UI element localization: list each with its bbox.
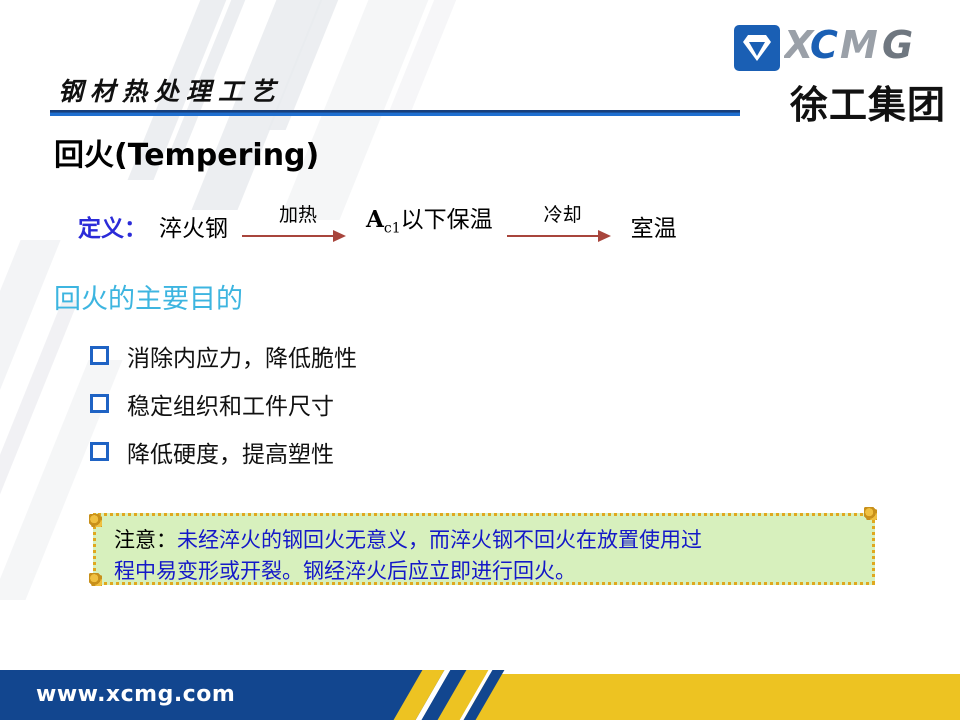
purpose-bullet-list: 消除内应力，降低脆性 稳定组织和工件尺寸 降低硬度，提高塑性: [90, 333, 357, 477]
corner-ornament-icon: [864, 507, 877, 520]
definition-flow: 定义： 淬火钢 加热 Ac1以下保温 冷却 室温: [78, 200, 677, 246]
header-divider: [50, 110, 740, 116]
definition-label: 定义：: [78, 212, 147, 246]
list-item: 消除内应力，降低脆性: [90, 333, 357, 378]
note-line-2: 程中易变形或开裂。钢经淬火后应立即进行回火。: [114, 556, 854, 587]
background-stripe: [0, 300, 79, 560]
logo-top-row: X C M G: [734, 24, 946, 72]
heating-arrow: 加热: [242, 206, 354, 246]
definition-start-term: 淬火钢: [159, 212, 228, 246]
middle-term-suffix: 以下保温: [401, 207, 493, 233]
svg-text:C: C: [810, 24, 838, 67]
arrow-shaft: [507, 235, 603, 237]
ac-subscript: c1: [384, 221, 401, 237]
xcmg-logo: X C M G 徐工集团: [734, 24, 946, 116]
corner-ornament-icon: [89, 573, 102, 586]
xcmg-wordmark: X C M G: [784, 24, 936, 72]
footer-url[interactable]: www.xcmg.com: [36, 682, 235, 707]
arrow-head: [598, 230, 611, 242]
list-item: 降低硬度，提高塑性: [90, 429, 357, 474]
svg-text:M: M: [840, 24, 878, 67]
list-item-label: 消除内应力，降低脆性: [127, 339, 357, 373]
ac-symbol: A: [366, 206, 384, 233]
note-keyword: 注意：: [114, 528, 177, 552]
list-item: 稳定组织和工件尺寸: [90, 381, 357, 426]
purpose-heading: 回火的主要目的: [54, 277, 243, 316]
footer-yellow-block: [640, 674, 960, 720]
heating-arrow-label: 加热: [279, 200, 317, 227]
section-heading-tempering: 回火(Tempering): [54, 130, 319, 174]
cooling-arrow: 冷却: [507, 206, 619, 246]
note-callout: 注意：未经淬火的钢回火无意义，而淬火钢不回火在放置使用过 程中易变形或开裂。钢经…: [93, 513, 875, 585]
arrow-shaft: [242, 235, 338, 237]
square-bullet-icon: [90, 442, 109, 461]
page-title: 钢材热处理工艺: [58, 72, 282, 108]
cooling-arrow-label: 冷却: [544, 200, 582, 227]
note-text-1: 未经淬火的钢回火无意义，而淬火钢不回火在放置使用过: [177, 528, 702, 552]
list-item-label: 降低硬度，提高塑性: [127, 435, 334, 469]
logo-chinese-name: 徐工集团: [734, 74, 946, 129]
list-item-label: 稳定组织和工件尺寸: [127, 387, 334, 421]
square-bullet-icon: [90, 346, 109, 365]
square-bullet-icon: [90, 394, 109, 413]
footer-bar: www.xcmg.com: [0, 662, 960, 720]
background-stripe: [0, 240, 61, 540]
slide-canvas: X C M G 徐工集团 钢材热处理工艺 回火(Tempering) 定义： 淬…: [0, 0, 960, 720]
svg-text:G: G: [882, 24, 913, 67]
xcmg-gem-icon: [734, 25, 780, 71]
definition-end-term: 室温: [631, 212, 677, 246]
arrow-head: [333, 230, 346, 242]
note-line-1: 注意：未经淬火的钢回火无意义，而淬火钢不回火在放置使用过: [114, 525, 854, 556]
background-stripe: [390, 0, 473, 110]
corner-ornament-icon: [89, 514, 102, 527]
definition-middle-term: Ac1以下保温: [366, 203, 493, 246]
